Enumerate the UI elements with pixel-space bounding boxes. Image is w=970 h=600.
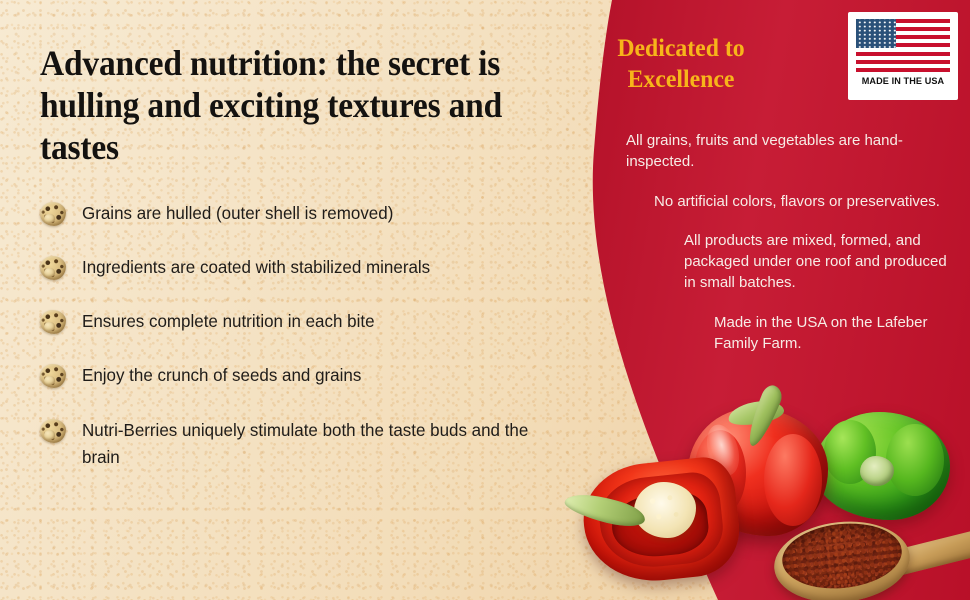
nutri-berry-icon xyxy=(40,364,66,388)
vegetables-image xyxy=(578,390,970,600)
list-item-label: Grains are hulled (outer shell is remove… xyxy=(82,200,393,227)
pepper-seed-core xyxy=(634,482,696,538)
nutri-berry-icon xyxy=(40,310,66,334)
usa-flag-icon xyxy=(856,19,950,72)
list-item: Enjoy the crunch of seeds and grains xyxy=(40,362,580,389)
nutrition-banner: Advanced nutrition: the secret is hullin… xyxy=(0,0,970,600)
nutri-berry-icon xyxy=(40,256,66,280)
list-item-label: Nutri-Berries uniquely stimulate both th… xyxy=(82,417,565,471)
red-pepper-lobe xyxy=(764,434,822,526)
green-pepper-lobe xyxy=(886,424,944,496)
list-item-label: Ingredients are coated with stabilized m… xyxy=(82,254,430,281)
benefits-list: Grains are hulled (outer shell is remove… xyxy=(40,200,580,471)
nutri-berry-icon xyxy=(40,202,66,226)
green-pepper-stem xyxy=(860,456,894,486)
list-item-label: Enjoy the crunch of seeds and grains xyxy=(82,362,361,389)
flag-canton xyxy=(856,19,896,48)
panel-paragraph: All grains, fruits and vegetables are ha… xyxy=(626,130,906,173)
panel-title: Dedicated to Excellence xyxy=(572,34,791,95)
list-item: Ensures complete nutrition in each bite xyxy=(40,308,580,335)
made-in-usa-badge: MADE IN THE USA xyxy=(848,12,958,100)
panel-paragraph: Made in the USA on the Lafeber Family Fa… xyxy=(714,312,949,355)
panel-paragraph: All products are mixed, formed, and pack… xyxy=(684,230,956,294)
nutri-berry-icon xyxy=(40,419,66,443)
list-item: Nutri-Berries uniquely stimulate both th… xyxy=(40,417,580,471)
panel-paragraph: No artificial colors, flavors or preserv… xyxy=(654,191,944,212)
list-item-label: Ensures complete nutrition in each bite xyxy=(82,308,375,335)
badge-caption: MADE IN THE USA xyxy=(858,76,948,87)
panel-body: All grains, fruits and vegetables are ha… xyxy=(626,130,956,354)
list-item: Ingredients are coated with stabilized m… xyxy=(40,254,580,281)
page-title: Advanced nutrition: the secret is hullin… xyxy=(40,42,547,168)
list-item: Grains are hulled (outer shell is remove… xyxy=(40,200,580,227)
